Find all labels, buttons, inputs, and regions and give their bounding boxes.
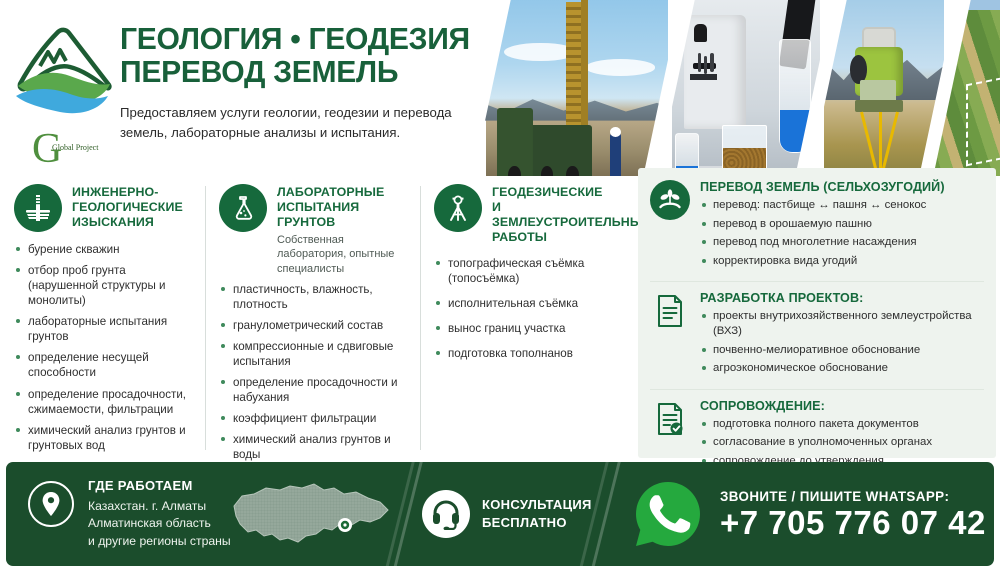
service-header: ЛАБОРАТОРНЫЕ ИСПЫТАНИЯ ГРУНТОВ Собственн… xyxy=(219,184,406,276)
panel-group-project-development: РАЗРАБОТКА ПРОЕКТОВ: проекты внутрихозяй… xyxy=(650,281,984,380)
wordmark-text: Global Project xyxy=(52,143,99,152)
whatsapp-icon[interactable] xyxy=(634,480,702,548)
panel-group-land-conversion: ПЕРЕВОД ЗЕМЕЛЬ (СЕЛЬХОЗУГОДИЙ) перевод: … xyxy=(650,180,984,272)
list-item: компрессионные и сдвиговые испытания xyxy=(219,339,406,369)
service-header: ИНЖЕНЕРНО- ГЕОЛОГИЧЕСКИЕ ИЗЫСКАНИЯ xyxy=(14,184,191,232)
list-item: вынос границ участка xyxy=(434,321,616,336)
service-title-line: ГЕОЛОГИЧЕСКИЕ xyxy=(72,200,183,215)
page-title-line-1: ГЕОЛОГИЯ • ГЕОДЕЗИЯ xyxy=(120,22,489,55)
page-title-line-2: ПЕРЕВОД ЗЕМЕЛЬ xyxy=(120,55,489,88)
document-check-icon xyxy=(650,399,690,439)
list-item: пластичность, влажность, плотность xyxy=(219,282,406,312)
logo-block[interactable]: G Global Project xyxy=(14,22,114,167)
where-line-2: Алматинская область xyxy=(88,515,231,532)
service-item-list: топографическая съёмка (топосъёмка) испо… xyxy=(434,256,616,361)
header-photo-strip xyxy=(478,0,1000,176)
panel-group-title: СОПРОВОЖДЕНИЕ: xyxy=(700,399,984,413)
sprout-plant-icon xyxy=(650,180,690,220)
list-item: подготовка тополнанов xyxy=(434,346,616,361)
where-line-3: и другие регионы страны xyxy=(88,533,231,550)
map-pin-icon xyxy=(28,481,74,527)
list-item: согласование в уполномоченных органах xyxy=(700,435,984,450)
document-lines-icon xyxy=(650,291,690,331)
land-conversion-panel: ПЕРЕВОД ЗЕМЕЛЬ (СЕЛЬХОЗУГОДИЙ) перевод: … xyxy=(638,168,996,458)
kazakhstan-map-icon xyxy=(228,480,398,550)
where-we-work-block: ГДЕ РАБОТАЕМ Казахстан. г. Алматы Алмати… xyxy=(28,478,231,550)
service-item-list: бурение скважин отбор проб грунта (наруш… xyxy=(14,242,191,489)
list-item: химический анализ грунтов и грунтовых во… xyxy=(14,423,191,453)
list-item: бурение скважин xyxy=(14,242,191,257)
panel-group-support: СОПРОВОЖДЕНИЕ: подготовка полного пакета… xyxy=(650,389,984,473)
service-title-line: РАБОТЫ xyxy=(492,230,650,245)
list-item: топографическая съёмка (топосъёмка) xyxy=(434,256,616,286)
free-consultation-block: КОНСУЛЬТАЦИЯ БЕСПЛАТНО xyxy=(422,490,592,538)
list-item: перевод: пастбище ↔ пашня ↔ сенокос xyxy=(700,198,984,213)
list-item: определение несущей способности xyxy=(14,350,191,380)
whatsapp-contact-block[interactable]: ЗВОНИТЕ / ПИШИТЕ WHATSAPP: +7 705 776 07… xyxy=(634,480,986,548)
panel-group-title: РАЗРАБОТКА ПРОЕКТОВ: xyxy=(700,291,984,305)
lab-flask-icon xyxy=(219,184,267,232)
where-line-1: Казахстан. г. Алматы xyxy=(88,498,231,515)
service-title-line: ИЗЫСКАНИЯ xyxy=(72,215,183,230)
panel-item-list: перевод: пастбище ↔ пашня ↔ сенокос пере… xyxy=(700,198,984,269)
headset-support-icon xyxy=(422,490,470,538)
list-item: корректировка вида угодий xyxy=(700,254,984,269)
panel-item-list: проекты внутрихозяйственного землеустрой… xyxy=(700,309,984,376)
list-item: перевод в орошаемую пашню xyxy=(700,217,984,232)
service-column-engineering-geology: ИНЖЕНЕРНО- ГЕОЛОГИЧЕСКИЕ ИЗЫСКАНИЯ бурен… xyxy=(0,176,205,462)
service-title-line: ИСПЫТАНИЯ xyxy=(277,200,406,215)
service-title: ГЕОДЕЗИЧЕСКИЕ И ЗЕМЛЕУСТРОИТЕЛЬНЫЕ РАБОТ… xyxy=(492,184,650,246)
service-title: ИНЖЕНЕРНО- ГЕОЛОГИЧЕСКИЕ ИЗЫСКАНИЯ xyxy=(72,184,183,230)
service-title-line: ЛАБОРАТОРНЫЕ xyxy=(277,185,406,200)
list-item: подготовка полного пакета документов xyxy=(700,417,984,432)
services-columns: ИНЖЕНЕРНО- ГЕОЛОГИЧЕСКИЕ ИЗЫСКАНИЯ бурен… xyxy=(0,176,630,462)
theodolite-tripod-icon xyxy=(434,184,482,232)
service-title-line: ГЕОДЕЗИЧЕСКИЕ xyxy=(492,185,650,200)
global-project-wordmark-icon: G Global Project xyxy=(14,122,114,168)
list-item: химический анализ грунтов и воды xyxy=(219,432,406,462)
phone-number[interactable]: +7 705 776 07 42 xyxy=(720,506,986,539)
list-item: почвенно-мелиоративное обоснование xyxy=(700,343,984,358)
whatsapp-call-label: ЗВОНИТЕ / ПИШИТЕ WHATSAPP: xyxy=(720,489,986,504)
list-item: лабораторные испытания грунтов xyxy=(14,314,191,344)
services-section: ИНЖЕНЕРНО- ГЕОЛОГИЧЕСКИЕ ИЗЫСКАНИЯ бурен… xyxy=(0,176,1000,462)
service-title-line: ИНЖЕНЕРНО- xyxy=(72,185,183,200)
list-item: перевод под многолетние насаждения xyxy=(700,235,984,250)
consultation-line-1: КОНСУЛЬТАЦИЯ xyxy=(482,496,592,514)
service-column-lab-testing: ЛАБОРАТОРНЫЕ ИСПЫТАНИЯ ГРУНТОВ Собственн… xyxy=(205,176,420,462)
where-we-work-title: ГДЕ РАБОТАЕМ xyxy=(88,478,231,493)
service-column-geodesy: ГЕОДЕЗИЧЕСКИЕ И ЗЕМЛЕУСТРОИТЕЛЬНЫЕ РАБОТ… xyxy=(420,176,630,462)
list-item: коэффициент фильтрации xyxy=(219,411,406,426)
promo-banner: G Global Project ГЕОЛОГИЯ • ГЕОДЕЗИЯ ПЕР… xyxy=(0,0,1000,572)
service-title: ЛАБОРАТОРНЫЕ ИСПЫТАНИЯ ГРУНТОВ Собственн… xyxy=(277,184,406,276)
service-subtitle: Собственная лаборатория, опытные специал… xyxy=(277,233,406,275)
list-item: агроэкономическое обоснование xyxy=(700,361,984,376)
consultation-line-2: БЕСПЛАТНО xyxy=(482,514,592,532)
service-title-line: ГРУНТОВ xyxy=(277,215,406,230)
list-item: исполнительная съёмка xyxy=(434,296,616,311)
list-item: определение просадочности, сжимаемости, … xyxy=(14,387,191,417)
list-item: гранулометрический состав xyxy=(219,318,406,333)
list-item: отбор проб грунта (нарушенной структуры … xyxy=(14,263,191,308)
panel-group-title: ПЕРЕВОД ЗЕМЕЛЬ (СЕЛЬХОЗУГОДИЙ) xyxy=(700,180,984,194)
title-block: ГЕОЛОГИЯ • ГЕОДЕЗИЯ ПЕРЕВОД ЗЕМЕЛЬ Предо… xyxy=(120,22,500,144)
page-subtitle: Предоставляем услуги геологии, геодезии … xyxy=(120,103,480,144)
list-item: проекты внутрихозяйственного землеустрой… xyxy=(700,309,984,339)
service-title-line: И ЗЕМЛЕУСТРОИТЕЛЬНЫЕ xyxy=(492,200,650,230)
list-item: определение просадочности и набухания xyxy=(219,375,406,405)
header: G Global Project ГЕОЛОГИЯ • ГЕОДЕЗИЯ ПЕР… xyxy=(0,0,1000,176)
contact-footer: ГДЕ РАБОТАЕМ Казахстан. г. Алматы Алмати… xyxy=(6,462,994,566)
borehole-drilling-icon xyxy=(14,184,62,232)
service-header: ГЕОДЕЗИЧЕСКИЕ И ЗЕМЛЕУСТРОИТЕЛЬНЫЕ РАБОТ… xyxy=(434,184,616,246)
mountain-river-logo-icon xyxy=(14,22,114,120)
